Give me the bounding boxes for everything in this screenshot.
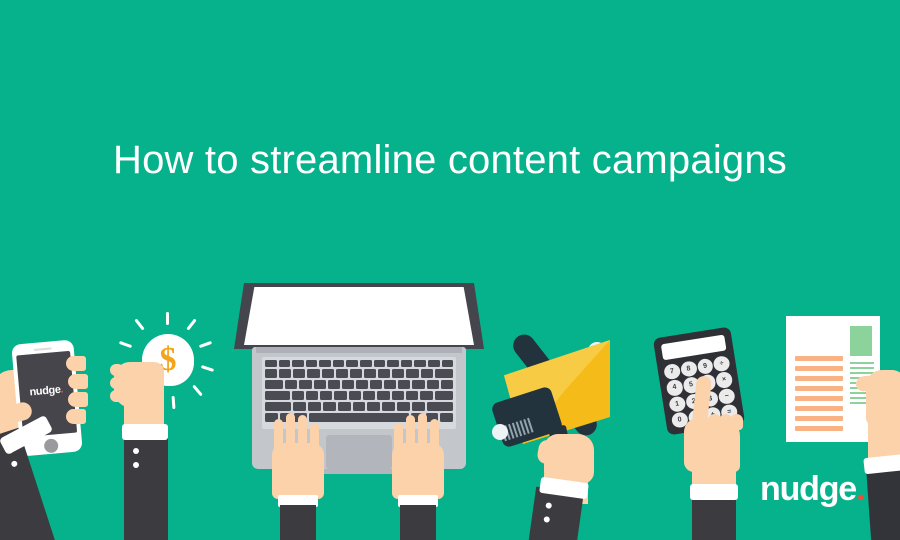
light-ray: [192, 385, 203, 397]
laptop-screen: [244, 287, 474, 345]
laptop-illustration: [230, 283, 488, 540]
document-chart-block: [850, 326, 872, 356]
suit-sleeve: [866, 465, 900, 540]
calculator-key[interactable]: 4: [666, 379, 684, 397]
shirt-cuff: [122, 424, 168, 440]
megaphone-cap: [492, 424, 508, 440]
hand-fingers: [708, 414, 748, 432]
light-ray: [119, 341, 132, 348]
laptop-lid: [234, 283, 484, 349]
suit-sleeve: [692, 496, 736, 540]
calculator-key[interactable]: ÷: [713, 355, 731, 373]
light-ray: [199, 341, 212, 348]
calculator-key[interactable]: 9: [696, 358, 714, 376]
laptop-trackpad[interactable]: [326, 435, 392, 469]
smartphone-in-hand-illustration: nudge.: [0, 330, 124, 540]
keyboard-row: [265, 380, 453, 389]
hand-fingers: [66, 352, 100, 442]
document-text-lines: [795, 356, 843, 436]
calculator-key[interactable]: 8: [680, 360, 698, 378]
suit-sleeve: [124, 436, 168, 540]
calculator-key[interactable]: ×: [715, 371, 733, 389]
brand-logo: nudge.: [760, 470, 864, 508]
suit-sleeve: [400, 505, 436, 540]
phone-home-button[interactable]: [44, 438, 59, 453]
typing-hand-left: [266, 413, 330, 523]
calculator-key[interactable]: 1: [668, 395, 686, 413]
calculator-key[interactable]: 7: [663, 363, 681, 381]
laptop-hinge: [256, 347, 462, 353]
megaphone-illustration: [492, 322, 638, 540]
keyboard-row: [265, 391, 453, 400]
brand-logo-text: nudge: [760, 470, 856, 508]
slide-canvas: How to streamline content campaigns nudg…: [0, 0, 900, 540]
hand-fist: [114, 362, 164, 408]
typing-hand-right: [386, 413, 450, 523]
hand-palm: [392, 443, 444, 499]
calculator-key[interactable]: −: [718, 387, 736, 405]
light-ray: [166, 312, 169, 325]
hand-holding-document: [860, 362, 900, 432]
light-ray: [186, 318, 196, 330]
keyboard-row: [265, 402, 453, 411]
shirt-cuff: [690, 484, 738, 500]
page-title: How to streamline content campaigns: [0, 133, 900, 187]
light-ray: [201, 365, 214, 372]
suit-sleeve: [280, 505, 316, 540]
phone-speaker: [34, 347, 52, 351]
keyboard-row: [265, 360, 453, 367]
lightbulb-illustration: $: [112, 312, 224, 540]
keyboard-row: [265, 369, 453, 378]
hand-palm: [272, 443, 324, 499]
light-ray: [172, 396, 176, 409]
brand-logo-dot: .: [856, 470, 864, 508]
light-ray: [134, 318, 144, 330]
